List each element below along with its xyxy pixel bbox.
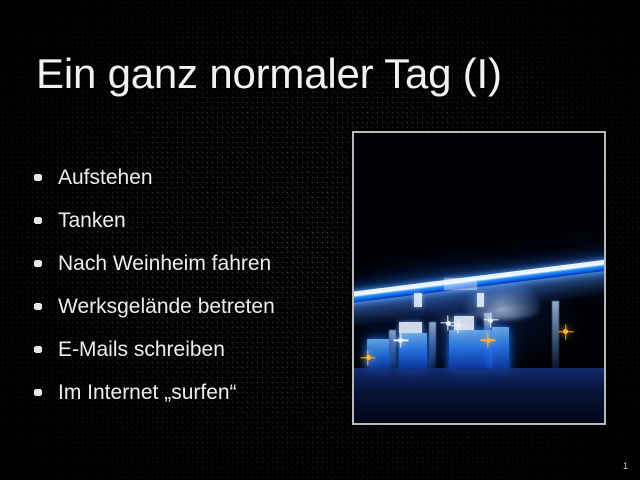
photo-price-sign — [414, 293, 422, 308]
list-item-label: Tanken — [58, 209, 126, 233]
photo-canopy-column — [389, 330, 396, 368]
square-dingbat-icon — [34, 389, 42, 396]
photo-canopy-column — [429, 322, 436, 368]
photo-fuel-pump — [449, 330, 492, 371]
photo-fuel-pump — [492, 327, 510, 371]
list-item-label: E-Mails schreiben — [58, 338, 225, 362]
photo-street-lamp-icon — [487, 339, 490, 342]
list-item: Im Internet „surfen“ — [34, 371, 334, 414]
list-item: Tanken — [34, 199, 334, 242]
list-item: Werksgelände betreten — [34, 285, 334, 328]
list-item-label: Im Internet „surfen“ — [58, 381, 237, 405]
photo-price-sign — [477, 293, 485, 308]
photo-forecourt-ground — [354, 368, 604, 423]
list-item: Nach Weinheim fahren — [34, 242, 334, 285]
bullet-list: Aufstehen Tanken Nach Weinheim fahren We… — [34, 156, 334, 414]
list-item-label: Nach Weinheim fahren — [58, 252, 271, 276]
slide-image-frame — [352, 131, 606, 425]
photo-canopy-banner — [444, 278, 477, 290]
photo-canopy-light-icon — [447, 322, 450, 325]
square-dingbat-icon — [34, 346, 42, 353]
photo-canopy-light-icon — [399, 339, 402, 342]
page-number: 1 — [623, 461, 628, 471]
photo-street-lamp-icon — [367, 356, 370, 359]
square-dingbat-icon — [34, 303, 42, 310]
photo-canopy-light-icon — [489, 319, 492, 322]
square-dingbat-icon — [34, 217, 42, 224]
square-dingbat-icon — [34, 174, 42, 181]
slide-content: Ein ganz normaler Tag (I) Aufstehen Tank… — [0, 0, 640, 480]
photo-canopy-column — [552, 301, 559, 368]
list-item-label: Werksgelände betreten — [58, 295, 275, 319]
presentation-slide: Ein ganz normaler Tag (I) Aufstehen Tank… — [0, 0, 640, 480]
list-item-label: Aufstehen — [58, 166, 153, 190]
list-item: Aufstehen — [34, 156, 334, 199]
photo-price-sign — [399, 322, 422, 334]
slide-title: Ein ganz normaler Tag (I) — [36, 50, 502, 98]
list-item: E-Mails schreiben — [34, 328, 334, 371]
photo-canopy-light-icon — [457, 324, 460, 327]
photo-street-lamp-icon — [564, 330, 567, 333]
gas-station-night-photo — [354, 133, 604, 423]
square-dingbat-icon — [34, 260, 42, 267]
